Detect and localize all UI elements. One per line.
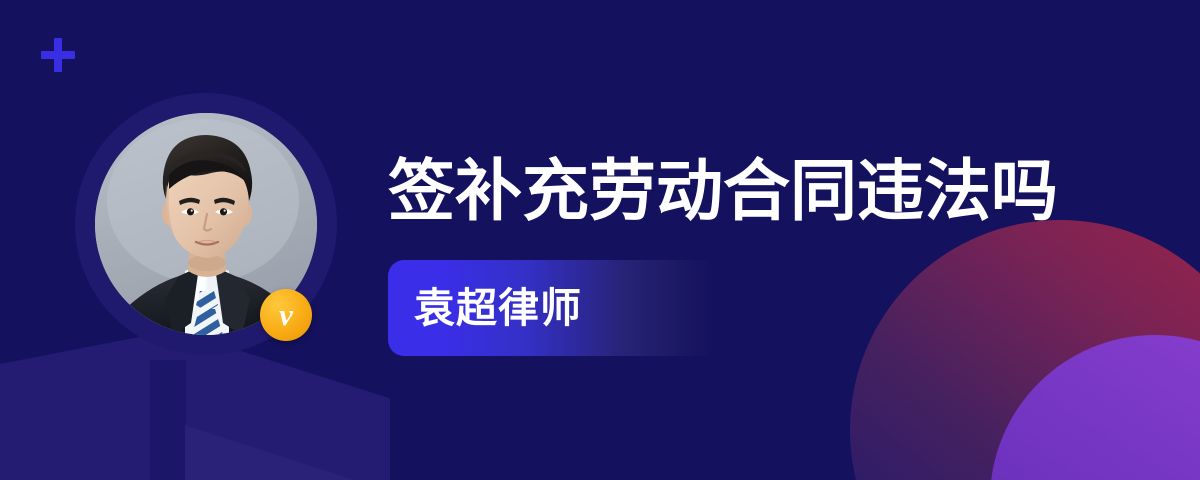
lawyer-qa-banner: v 签补充劳动合同违法吗 袁超律师: [0, 0, 1200, 480]
verified-badge-icon: v: [260, 289, 312, 341]
avatar: v: [75, 93, 337, 355]
page-title: 签补充劳动合同违法吗: [388, 152, 1148, 230]
plus-icon: [41, 38, 75, 72]
lawyer-name-chip[interactable]: 袁超律师: [388, 260, 716, 356]
vertical-stem-shape: [150, 360, 186, 480]
banner-content: 签补充劳动合同违法吗 袁超律师: [388, 152, 1148, 356]
lawyer-name-label: 袁超律师: [414, 288, 582, 329]
verified-badge-glyph: v: [260, 289, 312, 341]
